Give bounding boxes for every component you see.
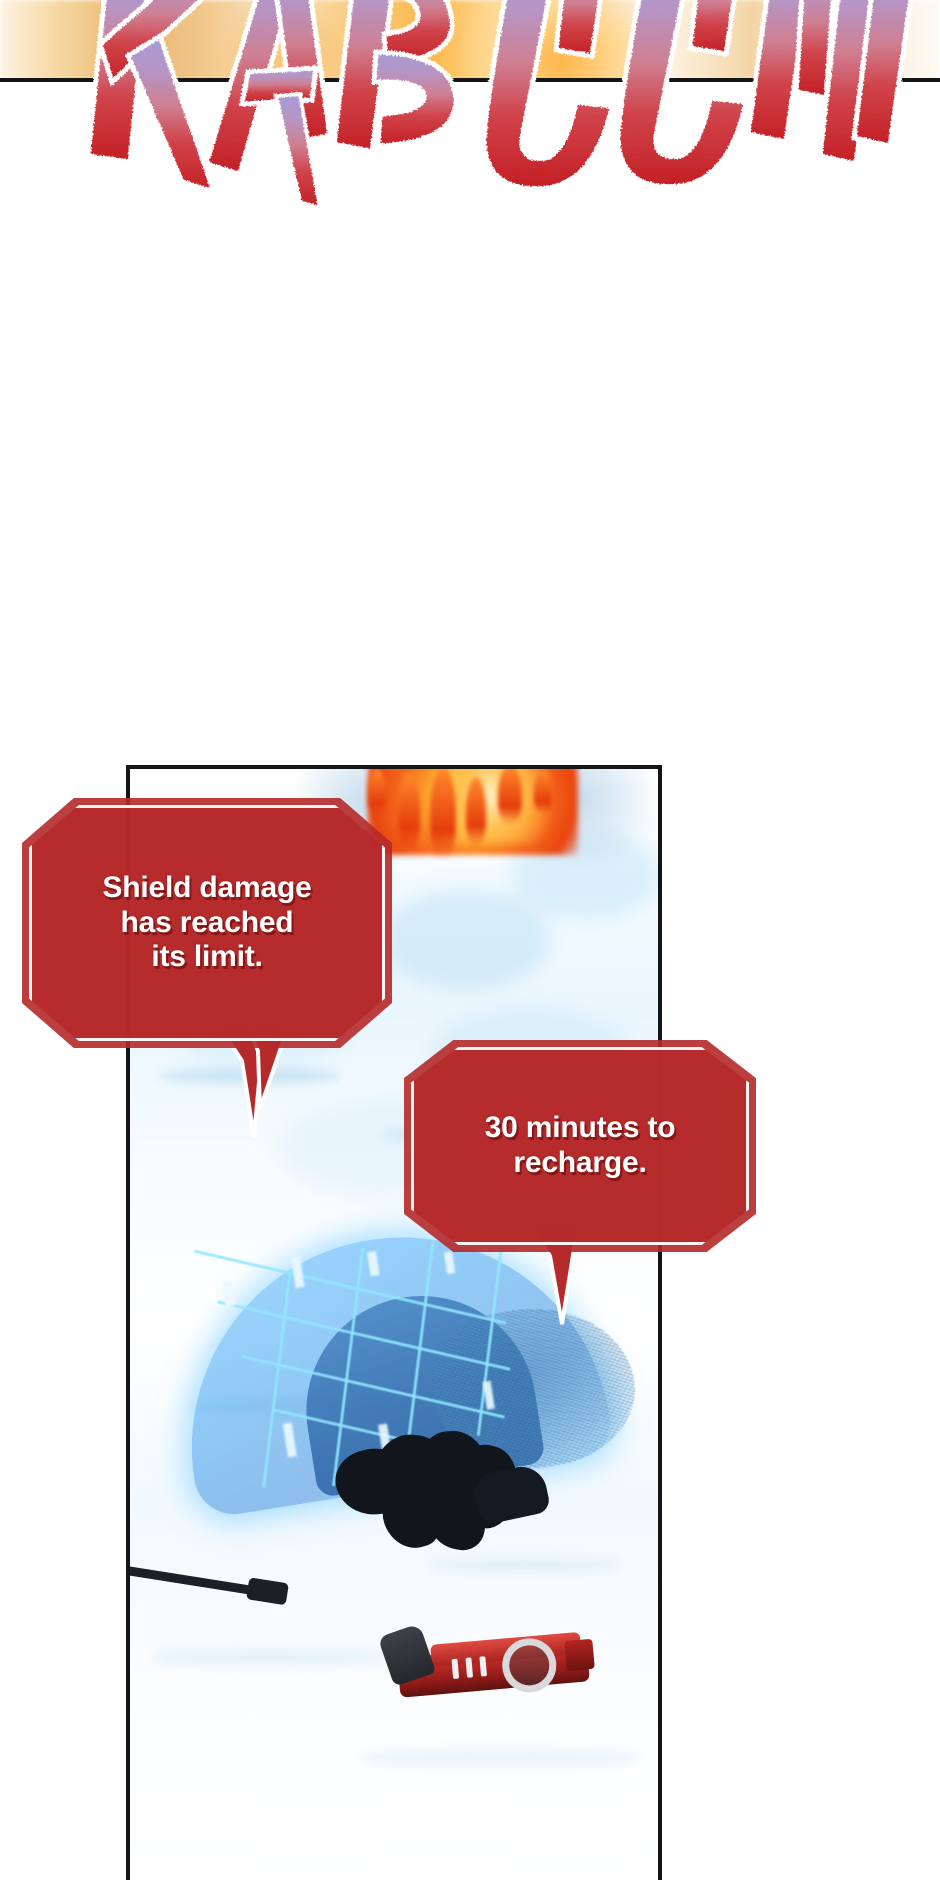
pistol-muzzle: [564, 1639, 595, 1671]
flame-lick: [398, 773, 420, 851]
ice-crack: [430, 1559, 620, 1571]
fire-glow-center: [460, 0, 660, 80]
rifle-tip: [246, 1577, 289, 1605]
fire-background-strip: [0, 0, 940, 80]
bubble-recharge-text: 30 minutes to recharge.: [404, 1040, 756, 1252]
ice-crack: [150, 1649, 390, 1665]
panel-bottom-rule: [0, 78, 940, 82]
comic-page: BZZT BZZT FZZT FZZT Shield damage has re…: [0, 0, 940, 1880]
flame-lick: [534, 771, 552, 815]
flame-lick: [430, 767, 456, 859]
bubble-shield-damage: Shield damage has reached its limit.: [22, 798, 392, 1048]
fire-glow-left: [210, 0, 370, 80]
bubble-shield-damage-text: Shield damage has reached its limit.: [22, 798, 392, 1048]
ice-crack: [360, 1749, 640, 1767]
flame-lick: [466, 777, 486, 847]
flame-lick: [498, 765, 522, 825]
red-pistol: [376, 1605, 599, 1723]
bubble-recharge: 30 minutes to recharge.: [404, 1040, 756, 1252]
snow-blob: [380, 889, 550, 989]
